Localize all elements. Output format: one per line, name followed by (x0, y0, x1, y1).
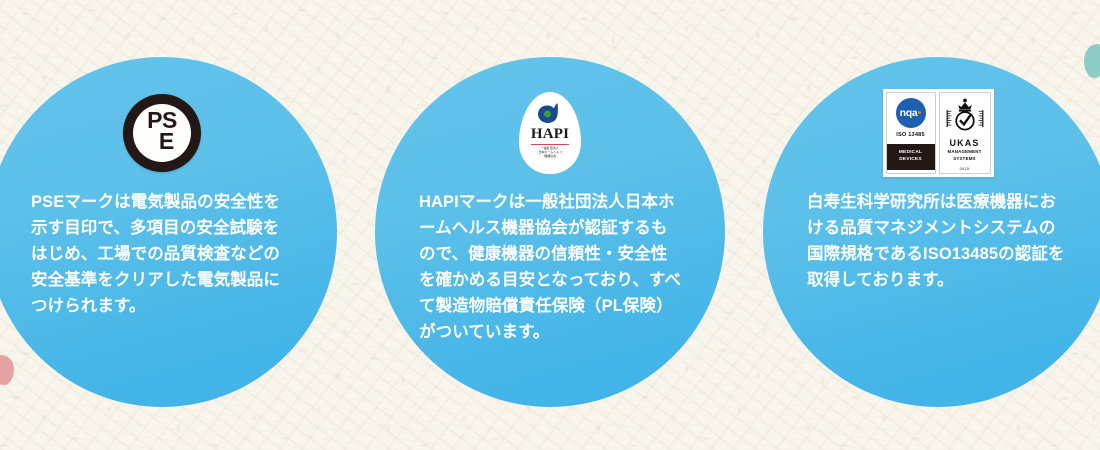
hapi-association-name: 一般社団法人 日本ホームヘルス 機器協会 (530, 147, 570, 158)
nqa-wordmark: nqa (900, 108, 918, 119)
pse-mark-bottom-text: E (133, 130, 191, 153)
badge-description-hapi: HAPIマークは一般社団法人日本ホームヘルス機器協会が認証するもので、健康機器の… (419, 189, 681, 345)
ukas-accreditation-number: 0015 (960, 167, 970, 171)
iso-ukas-logo: nqa ISO 13485 MEDICAL DEVICES (883, 87, 994, 179)
iso-ukas-mark-icon: nqa ISO 13485 MEDICAL DEVICES (883, 89, 994, 177)
hapi-wordmark: HAPI (531, 127, 569, 142)
nqa-scope-band: MEDICAL DEVICES (887, 144, 935, 169)
ukas-crown-tick-icon (942, 96, 988, 138)
nqa-scope-line-1: MEDICAL (887, 149, 935, 156)
certification-badge-hapi: HAPI 一般社団法人 日本ホームヘルス 機器協会 HAPIマークは一般社団法人… (375, 57, 725, 407)
ukas-wordmark: UKAS (950, 139, 980, 148)
hapi-mark-icon: HAPI 一般社団法人 日本ホームヘルス 機器協会 (519, 92, 581, 174)
nqa-disc-icon: nqa (896, 98, 926, 128)
badge-description-iso13485: 白寿生科学研究所は医療機器における品質マネジメントシステムの国際規格であるISO… (807, 189, 1069, 293)
badge-description-pse: PSEマークは電気製品の安全性を示す目印で、多項目の安全試験をはじめ、工場での品… (31, 189, 293, 319)
certification-badge-row: PS E PSEマークは電気製品の安全性を示す目印で、多項目の安全試験をはじめ、… (0, 0, 1100, 450)
hapi-divider (531, 144, 569, 145)
ukas-subtitle-line-2: SYSTEMS (948, 156, 982, 162)
ukas-badge-icon: UKAS MANAGEMENT SYSTEMS 0015 (939, 92, 991, 174)
pse-mark-face: PS E (133, 104, 191, 162)
nqa-accent-dot-icon (918, 111, 921, 114)
pse-mark-icon: PS E (123, 94, 201, 172)
hapi-sub-line-3: 機器協会 (544, 155, 556, 159)
certification-badge-pse: PS E PSEマークは電気製品の安全性を示す目印で、多項目の安全試験をはじめ、… (0, 57, 337, 407)
hapi-logo: HAPI 一般社団法人 日本ホームヘルス 機器協会 (519, 87, 581, 179)
nqa-standard-label: ISO 13485 (896, 132, 925, 138)
hapi-leaf-symbol-icon (537, 102, 563, 124)
ukas-subtitle: MANAGEMENT SYSTEMS (948, 149, 982, 162)
ukas-subtitle-line-1: MANAGEMENT (948, 149, 982, 155)
nqa-scope-line-2: DEVICES (887, 156, 935, 163)
certification-badge-iso13485: nqa ISO 13485 MEDICAL DEVICES (763, 57, 1100, 407)
pse-logo: PS E (123, 87, 201, 179)
nqa-badge-icon: nqa ISO 13485 MEDICAL DEVICES (886, 92, 936, 174)
nqa-badge-top: nqa ISO 13485 (887, 93, 935, 141)
